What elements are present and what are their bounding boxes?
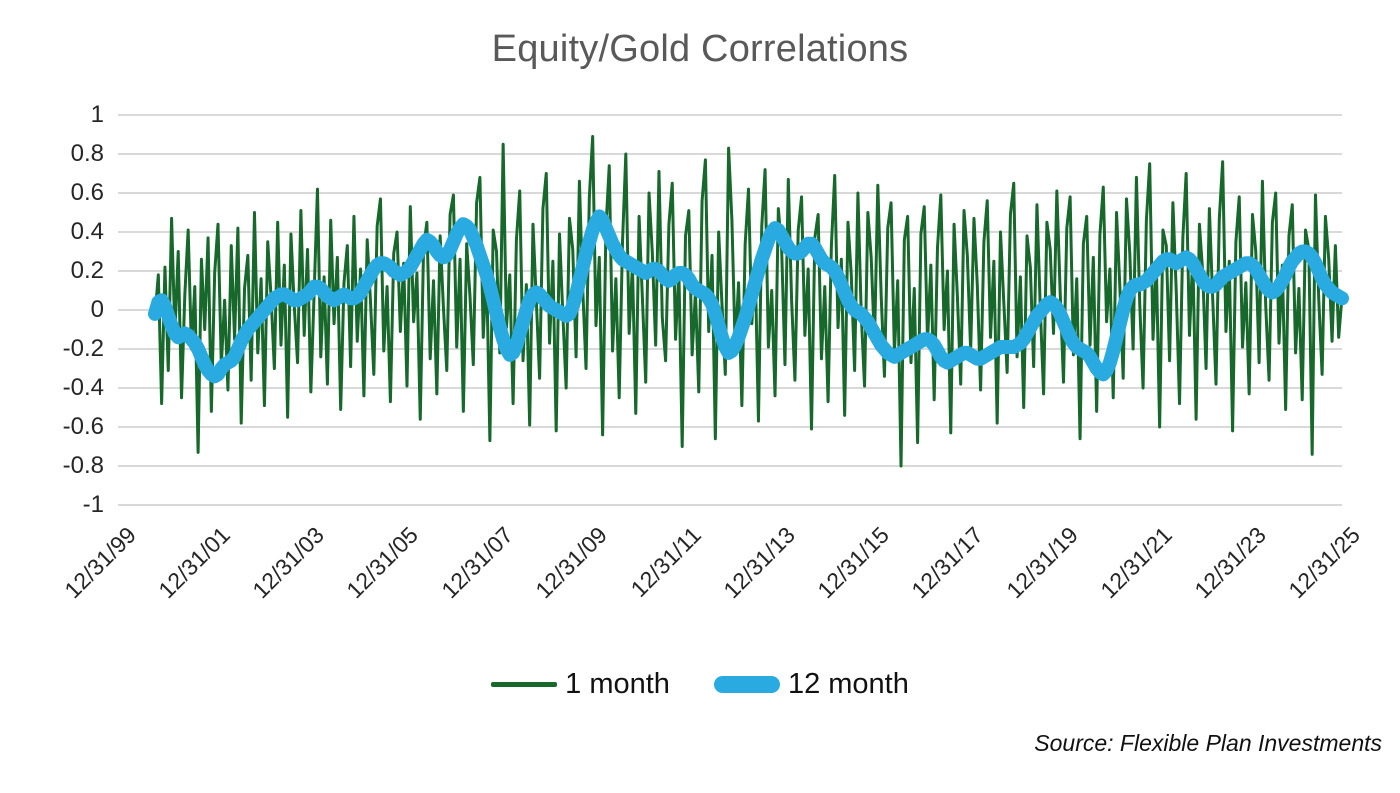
x-tick-label: 12/31/09 [524, 523, 611, 610]
x-tick-label: 12/31/17 [901, 523, 988, 610]
source-note: Source: Flexible Plan Investments [1034, 730, 1382, 757]
legend-entry-12-month[interactable]: 12 month [714, 668, 909, 701]
legend-label-1-month: 1 month [565, 668, 670, 701]
legend-entry-1-month[interactable]: 1 month [491, 668, 670, 701]
x-tick-label: 12/31/13 [712, 523, 799, 610]
x-tick-label: 12/31/25 [1277, 523, 1364, 610]
x-tick-label: 12/31/19 [995, 523, 1082, 610]
x-tick-label: 12/31/99 [53, 523, 140, 610]
legend-swatch-12-month-icon [714, 676, 780, 693]
x-tick-label: 12/31/05 [336, 523, 423, 610]
chart-legend: 1 month 12 month [0, 668, 1400, 701]
legend-swatch-1-month-icon [491, 682, 557, 687]
x-tick-label: 12/31/15 [807, 523, 894, 610]
x-tick-label: 12/31/23 [1183, 523, 1270, 610]
x-tick-label: 12/31/11 [618, 523, 705, 610]
legend-label-12-month: 12 month [788, 668, 909, 701]
x-tick-label: 12/31/07 [430, 523, 517, 610]
chart-container: Equity/Gold Correlations 10.80.60.40.20-… [0, 0, 1400, 793]
x-tick-label: 12/31/03 [242, 523, 329, 610]
x-tick-label: 12/31/21 [1089, 523, 1176, 610]
x-tick-label: 12/31/01 [147, 523, 234, 610]
